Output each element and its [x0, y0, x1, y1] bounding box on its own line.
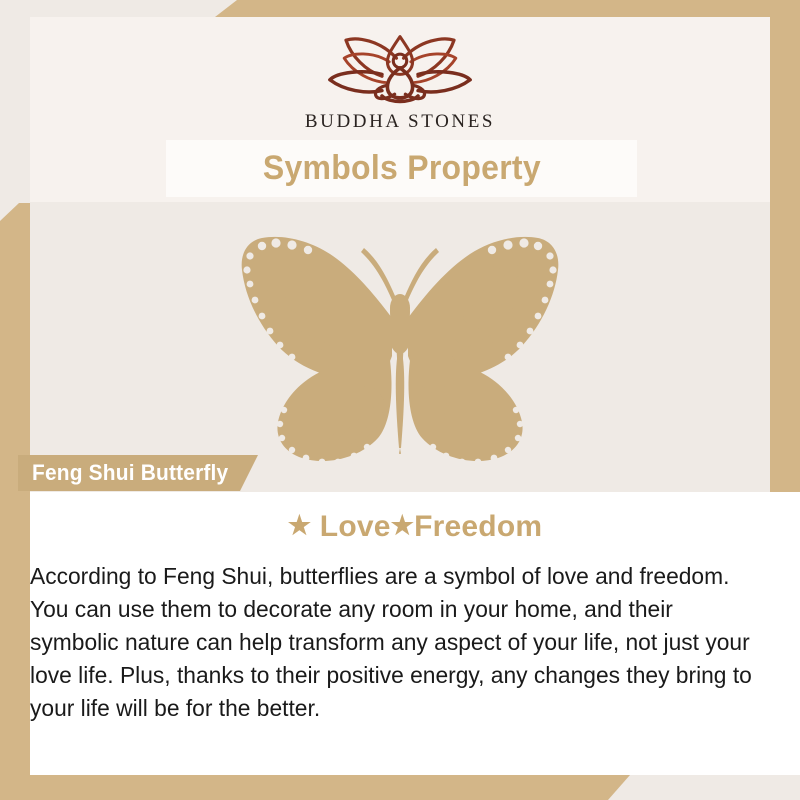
star-mid-icon: ★ — [391, 510, 415, 541]
description-panel: ★ Love★Freedom According to Feng Shui, b… — [30, 492, 800, 775]
subtitle-word-love: Love — [320, 510, 391, 543]
subtitle-word-freedom: Freedom — [414, 510, 542, 543]
star-left-icon: ★ — [288, 510, 312, 541]
header: BUDDHA STONES Symbols Property — [30, 17, 770, 202]
brand-name: BUDDHA STONES — [305, 111, 495, 133]
monarch-butterfly-icon — [214, 222, 586, 472]
lotus-meditation-figure-icon — [310, 31, 490, 107]
brand-logo: BUDDHA STONES — [30, 17, 770, 139]
page-title-strip: Symbols Property — [166, 140, 637, 197]
label-text: Feng Shui Butterfly — [32, 460, 228, 486]
page-title: Symbols Property — [262, 149, 540, 188]
subtitle: ★ Love★Freedom — [30, 510, 800, 544]
promo-graphic-page: BUDDHA STONES Symbols Property — [0, 0, 800, 800]
description-text: According to Feng Shui, butterflies are … — [30, 563, 752, 721]
decorative-top-band — [215, 0, 800, 17]
description-paragraph: According to Feng Shui, butterflies are … — [30, 560, 777, 725]
decorative-bottom-band — [0, 775, 630, 800]
decorative-left-strip — [0, 203, 30, 795]
hero-illustration-area — [30, 202, 770, 492]
feng-shui-butterfly-label: Feng Shui Butterfly — [18, 455, 258, 491]
